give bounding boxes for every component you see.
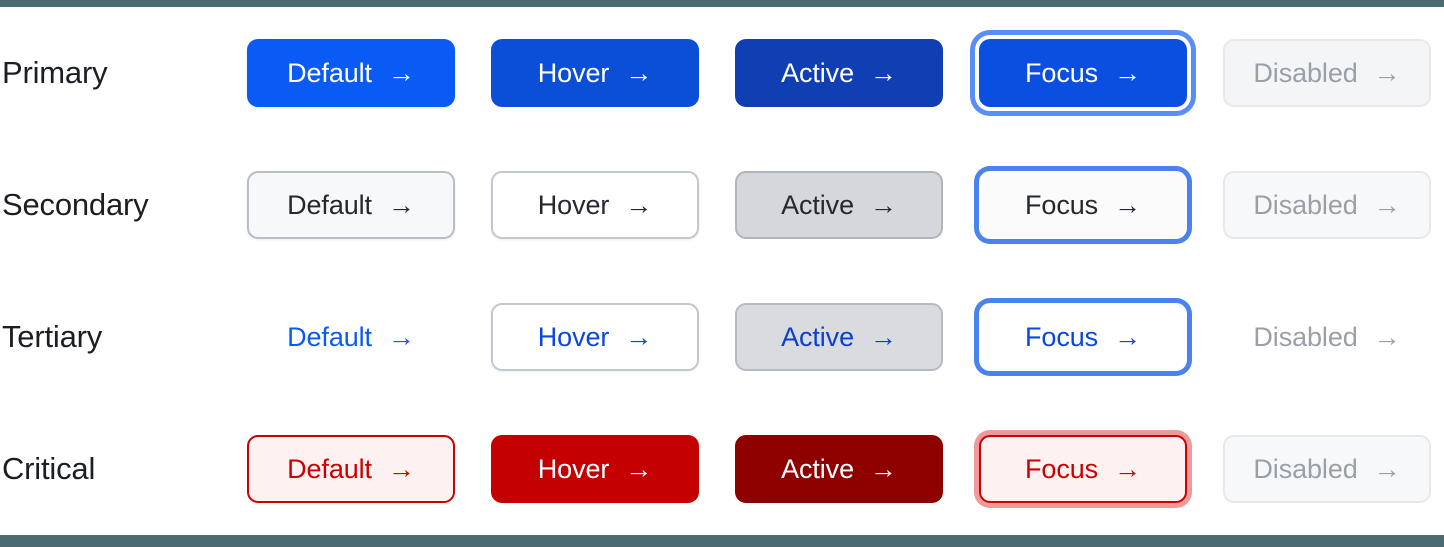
arrow-right-icon: → <box>625 456 652 483</box>
cell-primary-default: Default → <box>247 39 491 107</box>
button-label: Hover <box>538 58 610 89</box>
cell-primary-focus: Focus → <box>979 39 1223 107</box>
button-label: Disabled <box>1253 322 1357 353</box>
cell-primary-hover: Hover → <box>491 39 735 107</box>
cell-critical-active: Active → <box>735 435 979 503</box>
button-label: Hover <box>538 454 610 485</box>
arrow-right-icon: → <box>1374 324 1401 351</box>
cell-secondary-active: Active → <box>735 171 979 239</box>
button-secondary-disabled: Disabled → <box>1223 171 1431 239</box>
button-primary-hover[interactable]: Hover → <box>491 39 699 107</box>
button-label: Disabled <box>1253 190 1357 221</box>
button-tertiary-focus[interactable]: Focus → <box>979 303 1187 371</box>
arrow-right-icon: → <box>870 60 897 87</box>
arrow-right-icon: → <box>388 60 415 87</box>
button-label: Active <box>781 454 854 485</box>
arrow-right-icon: → <box>870 324 897 351</box>
cell-critical-disabled: Disabled → <box>1223 435 1444 503</box>
button-label: Active <box>781 58 854 89</box>
row-label-critical: Critical <box>0 451 247 487</box>
button-label: Focus <box>1025 322 1098 353</box>
arrow-right-icon: → <box>1114 192 1141 219</box>
cell-tertiary-focus: Focus → <box>979 303 1223 371</box>
button-label: Default <box>287 190 372 221</box>
bottom-edge-bar <box>0 535 1444 547</box>
cell-tertiary-default: Default → <box>247 303 491 371</box>
button-label: Hover <box>538 190 610 221</box>
button-tertiary-hover[interactable]: Hover → <box>491 303 699 371</box>
cell-primary-active: Active → <box>735 39 979 107</box>
button-tertiary-active[interactable]: Active → <box>735 303 943 371</box>
cell-tertiary-active: Active → <box>735 303 979 371</box>
cell-secondary-default: Default → <box>247 171 491 239</box>
button-label: Active <box>781 322 854 353</box>
cell-primary-disabled: Disabled → <box>1223 39 1444 107</box>
cell-critical-focus: Focus → <box>979 435 1223 503</box>
button-critical-active[interactable]: Active → <box>735 435 943 503</box>
button-row-critical: Critical Default → Hover → Active → Focu… <box>0 403 1444 535</box>
arrow-right-icon: → <box>388 192 415 219</box>
arrow-right-icon: → <box>625 192 652 219</box>
cell-secondary-disabled: Disabled → <box>1223 171 1444 239</box>
button-critical-disabled: Disabled → <box>1223 435 1431 503</box>
button-tertiary-default[interactable]: Default → <box>247 303 455 371</box>
button-secondary-default[interactable]: Default → <box>247 171 455 239</box>
arrow-right-icon: → <box>870 192 897 219</box>
button-primary-disabled: Disabled → <box>1223 39 1431 107</box>
button-label: Disabled <box>1253 58 1357 89</box>
cell-critical-hover: Hover → <box>491 435 735 503</box>
cell-tertiary-disabled: Disabled → <box>1223 303 1444 371</box>
button-primary-active[interactable]: Active → <box>735 39 943 107</box>
button-label: Focus <box>1025 454 1098 485</box>
button-primary-focus[interactable]: Focus → <box>979 39 1187 107</box>
button-label: Focus <box>1025 190 1098 221</box>
button-secondary-hover[interactable]: Hover → <box>491 171 699 239</box>
arrow-right-icon: → <box>388 324 415 351</box>
button-label: Hover <box>538 322 610 353</box>
cell-tertiary-hover: Hover → <box>491 303 735 371</box>
button-label: Default <box>287 454 372 485</box>
button-primary-default[interactable]: Default → <box>247 39 455 107</box>
cell-critical-default: Default → <box>247 435 491 503</box>
button-critical-focus[interactable]: Focus → <box>979 435 1187 503</box>
cell-secondary-focus: Focus → <box>979 171 1223 239</box>
button-label: Active <box>781 190 854 221</box>
arrow-right-icon: → <box>625 324 652 351</box>
arrow-right-icon: → <box>870 456 897 483</box>
button-secondary-focus[interactable]: Focus → <box>979 171 1187 239</box>
arrow-right-icon: → <box>1374 456 1401 483</box>
button-label: Focus <box>1025 58 1098 89</box>
button-state-matrix: Primary Default → Hover → Active → Focus… <box>0 7 1444 535</box>
button-critical-default[interactable]: Default → <box>247 435 455 503</box>
button-secondary-active[interactable]: Active → <box>735 171 943 239</box>
button-label: Default <box>287 58 372 89</box>
button-label: Disabled <box>1253 454 1357 485</box>
arrow-right-icon: → <box>1114 60 1141 87</box>
row-label-secondary: Secondary <box>0 187 247 223</box>
row-label-tertiary: Tertiary <box>0 319 247 355</box>
button-row-primary: Primary Default → Hover → Active → Focus… <box>0 7 1444 139</box>
cell-secondary-hover: Hover → <box>491 171 735 239</box>
button-row-secondary: Secondary Default → Hover → Active → Foc… <box>0 139 1444 271</box>
arrow-right-icon: → <box>625 60 652 87</box>
arrow-right-icon: → <box>1374 192 1401 219</box>
button-tertiary-disabled: Disabled → <box>1223 303 1431 371</box>
button-row-tertiary: Tertiary Default → Hover → Active → Focu… <box>0 271 1444 403</box>
arrow-right-icon: → <box>1374 60 1401 87</box>
arrow-right-icon: → <box>1114 456 1141 483</box>
row-label-primary: Primary <box>0 55 247 91</box>
arrow-right-icon: → <box>1114 324 1141 351</box>
button-critical-hover[interactable]: Hover → <box>491 435 699 503</box>
top-edge-bar <box>0 0 1444 7</box>
button-label: Default <box>287 322 372 353</box>
arrow-right-icon: → <box>388 456 415 483</box>
